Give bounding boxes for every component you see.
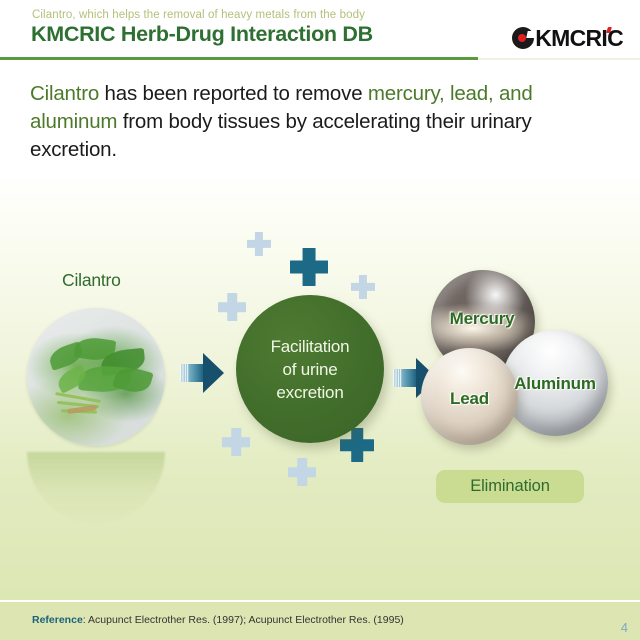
logo-ring-icon [512,27,534,49]
arrow-head [203,353,224,393]
flow-arrow-icon [180,353,224,393]
logo-red-dot-icon [518,34,526,42]
header-divider [0,57,478,60]
metal-sphere-lead: Lead [421,348,518,445]
reference-line: Reference: Acupunct Electrother Res. (19… [32,614,404,626]
metal-label: Lead [450,389,489,409]
slide: Cilantro, which helps the removal of hea… [0,0,640,640]
logo-wordmark: KMCRIC [535,26,623,50]
header-divider-light [478,58,640,60]
metal-label: Aluminum [514,374,596,394]
process-line-1: Facilitation [271,335,350,358]
reference-label: Reference [32,614,83,626]
reference-citations: : Acupunct Electrother Res. (1997); Acup… [83,614,404,626]
process-circle: Facilitation of urine excretion [236,295,384,443]
process-circle-text: Facilitation of urine excretion [271,335,350,404]
slide-header: Cilantro, which helps the removal of hea… [0,0,640,58]
slide-footer: Reference: Acupunct Electrother Res. (19… [0,602,640,640]
page-number: 4 [621,620,628,635]
plus-decoration-icon [288,458,316,486]
statement-text: Cilantro has been reported to remove mer… [30,80,622,164]
cilantro-reflection [27,452,165,524]
diagram-panel: Cilantro Facilitation of urine [0,170,640,600]
header-subtitle: Cilantro, which helps the removal of hea… [32,9,365,21]
arrow-stripes [393,369,402,387]
cilantro-photo [27,308,165,446]
elimination-badge: Elimination [436,470,584,503]
elimination-label: Elimination [470,477,550,496]
metal-sphere-aluminum: Aluminum [502,330,608,436]
cilantro-label: Cilantro [62,270,121,291]
page-title: KMCRIC Herb-Drug Interaction DB [31,22,373,47]
plus-decoration-icon [222,428,250,456]
kmcric-logo: KMCRIC [512,25,623,51]
process-line-3: excretion [271,381,350,404]
process-line-2: of urine [271,358,350,381]
plus-decoration-icon [247,232,271,256]
arrow-stripes [180,364,189,382]
plus-decoration-icon [351,275,375,299]
statement-plain-1: has been reported to remove [99,82,368,105]
statement-highlight-herb: Cilantro [30,82,99,105]
plus-decoration-icon [290,248,328,286]
metal-label: Mercury [450,309,517,329]
plus-decoration-icon [218,293,246,321]
